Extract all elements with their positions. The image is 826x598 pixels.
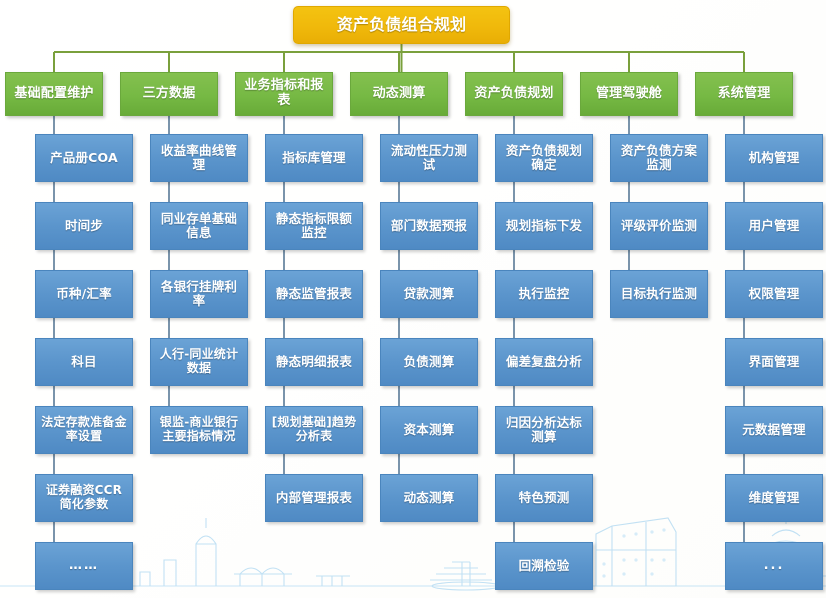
branch-node-2[interactable]: 业务指标和报表	[235, 72, 333, 116]
leaf-node-1-2[interactable]: 各银行挂牌利率	[150, 270, 248, 318]
branch-node-5[interactable]: 管理驾驶舱	[580, 72, 678, 116]
leaf-node-1-1[interactable]: 同业存单基础信息	[150, 202, 248, 250]
leaf-node-4-6[interactable]: 回溯检验	[495, 542, 593, 590]
leaf-node-0-5[interactable]: 证券融资CCR简化参数	[35, 474, 133, 522]
branch-node-3[interactable]: 动态测算	[350, 72, 448, 116]
leaf-node-1-0[interactable]: 收益率曲线管理	[150, 134, 248, 182]
leaf-node-5-2[interactable]: 目标执行监测	[610, 270, 708, 318]
leaf-node-3-4[interactable]: 资本测算	[380, 406, 478, 454]
leaf-node-0-1[interactable]: 时间步	[35, 202, 133, 250]
leaf-node-0-6[interactable]: ……	[35, 542, 133, 590]
leaf-node-6-5[interactable]: 维度管理	[725, 474, 823, 522]
leaf-node-4-2[interactable]: 执行监控	[495, 270, 593, 318]
leaf-node-0-3[interactable]: 科目	[35, 338, 133, 386]
org-chart-canvas: 资产负债组合规划基础配置维护产品册COA时间步币种/汇率科目法定存款准备金率设置…	[0, 0, 826, 598]
leaf-node-4-4[interactable]: 归因分析达标测算	[495, 406, 593, 454]
leaf-node-2-5[interactable]: 内部管理报表	[265, 474, 363, 522]
branch-node-4[interactable]: 资产负债规划	[465, 72, 563, 116]
leaf-node-3-3[interactable]: 负债测算	[380, 338, 478, 386]
leaf-node-3-2[interactable]: 贷款测算	[380, 270, 478, 318]
branch-node-1[interactable]: 三方数据	[120, 72, 218, 116]
leaf-node-4-3[interactable]: 偏差复盘分析	[495, 338, 593, 386]
leaf-node-2-4[interactable]: [规划基础]趋势分析表	[265, 406, 363, 454]
leaf-node-0-0[interactable]: 产品册COA	[35, 134, 133, 182]
leaf-node-6-0[interactable]: 机构管理	[725, 134, 823, 182]
leaf-node-3-0[interactable]: 流动性压力测试	[380, 134, 478, 182]
leaf-node-2-0[interactable]: 指标库管理	[265, 134, 363, 182]
leaf-node-2-3[interactable]: 静态明细报表	[265, 338, 363, 386]
leaf-node-6-1[interactable]: 用户管理	[725, 202, 823, 250]
leaf-node-3-5[interactable]: 动态测算	[380, 474, 478, 522]
branch-node-0[interactable]: 基础配置维护	[5, 72, 103, 116]
leaf-node-4-0[interactable]: 资产负债规划确定	[495, 134, 593, 182]
leaf-node-1-4[interactable]: 银监-商业银行主要指标情况	[150, 406, 248, 454]
root-node: 资产负债组合规划	[293, 6, 510, 44]
leaf-node-2-1[interactable]: 静态指标限额监控	[265, 202, 363, 250]
leaf-node-6-4[interactable]: 元数据管理	[725, 406, 823, 454]
leaf-node-4-5[interactable]: 特色预测	[495, 474, 593, 522]
branch-node-6[interactable]: 系统管理	[695, 72, 793, 116]
leaf-node-3-1[interactable]: 部门数据预报	[380, 202, 478, 250]
leaf-node-0-2[interactable]: 币种/汇率	[35, 270, 133, 318]
leaf-node-0-4[interactable]: 法定存款准备金率设置	[35, 406, 133, 454]
leaf-node-5-0[interactable]: 资产负债方案监测	[610, 134, 708, 182]
leaf-node-1-3[interactable]: 人行-同业统计数据	[150, 338, 248, 386]
leaf-node-6-3[interactable]: 界面管理	[725, 338, 823, 386]
leaf-node-6-6[interactable]: ...	[725, 542, 823, 590]
leaf-node-2-2[interactable]: 静态监管报表	[265, 270, 363, 318]
leaf-node-4-1[interactable]: 规划指标下发	[495, 202, 593, 250]
leaf-node-5-1[interactable]: 评级评价监测	[610, 202, 708, 250]
leaf-node-6-2[interactable]: 权限管理	[725, 270, 823, 318]
